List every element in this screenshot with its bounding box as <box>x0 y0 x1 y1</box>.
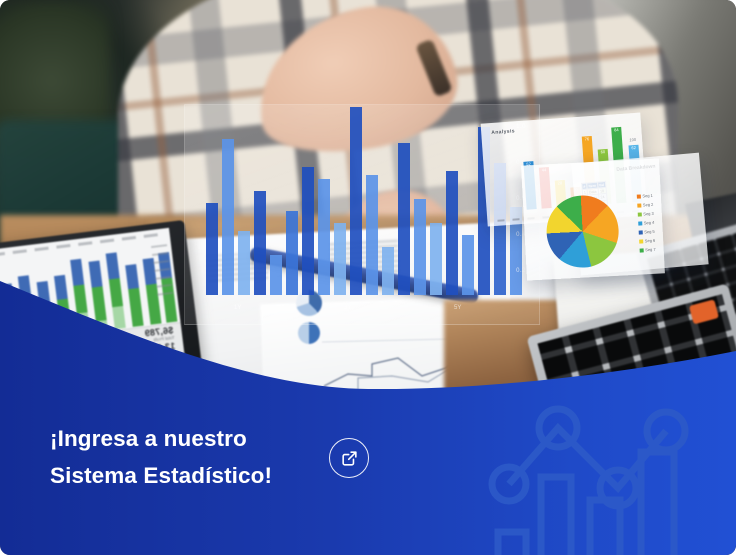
open-statistics-system-button[interactable] <box>329 438 369 478</box>
statistics-system-banner: 2020 $6,789 Total Profit 13,678 Total Or… <box>0 0 736 555</box>
headline-line-1: ¡Ingresa a nuestro <box>50 420 315 457</box>
chart-watermark-icon <box>486 387 736 555</box>
panel-content: ¡Ingresa a nuestro Sistema Estadístico! <box>0 0 736 555</box>
external-link-icon <box>340 449 359 468</box>
page-title: ¡Ingresa a nuestro Sistema Estadístico! <box>50 420 315 494</box>
headline-line-2: Sistema Estadístico! <box>50 457 315 494</box>
